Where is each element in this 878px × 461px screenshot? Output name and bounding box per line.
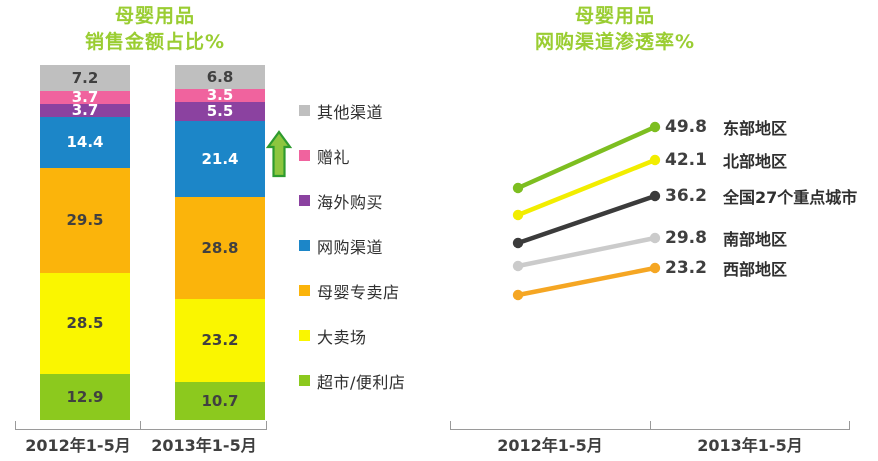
line-series-name: 南部地区 — [723, 226, 787, 250]
line-series-value: 29.8 — [665, 228, 723, 248]
bar-segment-value: 29.5 — [66, 211, 103, 229]
bar-segment[interactable]: 12.9 — [40, 374, 130, 420]
bar-segment[interactable]: 28.8 — [175, 197, 265, 299]
line-data-point[interactable] — [650, 191, 660, 201]
line-series-name: 全国27个重点城市 — [723, 184, 857, 208]
bar-segment[interactable]: 3.5 — [175, 89, 265, 101]
bar-column-2013[interactable]: 6.83.55.521.428.823.210.7 — [175, 65, 265, 420]
bar-segment[interactable]: 10.7 — [175, 382, 265, 420]
bar-segment-value: 23.2 — [201, 331, 238, 349]
legend-label: 赠礼 — [317, 144, 350, 168]
legend-label: 超市/便利店 — [317, 369, 405, 393]
axis-tick — [450, 421, 451, 430]
legend-swatch-icon — [299, 285, 310, 296]
arrow-up-icon — [266, 130, 292, 178]
axis-tick — [650, 421, 651, 430]
legend-item[interactable]: 大卖场 — [299, 313, 439, 358]
line-series — [518, 268, 655, 295]
bar-segment[interactable]: 5.5 — [175, 102, 265, 122]
line-series-value: 36.2 — [665, 186, 723, 206]
axis-tick — [15, 421, 16, 430]
line-series-value: 49.8 — [665, 117, 723, 137]
axis-tick — [140, 421, 141, 430]
axis-line — [15, 429, 267, 430]
legend-item[interactable]: 赠礼 — [299, 133, 439, 178]
axis-tick — [849, 421, 850, 430]
bar-segment[interactable]: 14.4 — [40, 117, 130, 168]
line-series-label-row: 42.1北部地区 — [665, 149, 787, 171]
line-series-name: 东部地区 — [723, 115, 787, 139]
line-series — [518, 160, 655, 215]
legend-label: 母婴专卖店 — [317, 279, 400, 303]
line-data-point[interactable] — [650, 233, 660, 243]
bar-segment[interactable]: 3.7 — [40, 104, 130, 117]
line-data-point[interactable] — [650, 263, 660, 273]
left-chart-axis-labels: 2012年1-5月 2013年1-5月 — [15, 432, 267, 456]
axis-tick — [266, 421, 267, 430]
legend-swatch-icon — [299, 150, 310, 161]
line-series — [518, 238, 655, 266]
legend-swatch-icon — [299, 195, 310, 206]
line-data-point[interactable] — [650, 155, 660, 165]
line-data-point[interactable] — [513, 261, 523, 271]
line-series-value: 42.1 — [665, 150, 723, 170]
bar-segment-value: 14.4 — [66, 133, 103, 151]
bar-segment[interactable]: 29.5 — [40, 168, 130, 273]
bar-segment[interactable]: 23.2 — [175, 299, 265, 381]
legend-swatch-icon — [299, 375, 310, 386]
legend-item[interactable]: 海外购买 — [299, 178, 439, 223]
bar-segment[interactable]: 21.4 — [175, 121, 265, 197]
legend-label: 海外购买 — [317, 189, 383, 213]
legend: 其他渠道赠礼海外购买网购渠道母婴专卖店大卖场超市/便利店 — [299, 88, 439, 403]
legend-item[interactable]: 母婴专卖店 — [299, 268, 439, 313]
line-series-name: 北部地区 — [723, 148, 787, 172]
chart-canvas: 母婴用品 销售金额占比% 7.23.73.714.429.528.512.9 6… — [0, 0, 878, 461]
bar-segment[interactable]: 7.2 — [40, 65, 130, 91]
line-chart-plot — [440, 0, 878, 461]
line-data-point[interactable] — [513, 290, 523, 300]
bar-segment-value: 3.7 — [72, 104, 99, 117]
right-chart-axis-labels: 2012年1-5月 2013年1-5月 — [450, 432, 850, 456]
bar-segment-value: 21.4 — [201, 150, 238, 168]
bar-segment-value: 6.8 — [207, 68, 234, 86]
legend-item[interactable]: 网购渠道 — [299, 223, 439, 268]
bar-segment-value: 10.7 — [201, 392, 238, 410]
legend-item[interactable]: 超市/便利店 — [299, 358, 439, 403]
line-series-label-row: 36.2全国27个重点城市 — [665, 185, 857, 207]
line-data-point[interactable] — [513, 210, 523, 220]
bar-segment[interactable]: 3.7 — [40, 91, 130, 104]
axis-label-2013: 2013年1-5月 — [650, 432, 850, 456]
line-data-point[interactable] — [650, 122, 660, 132]
axis-label-2013: 2013年1-5月 — [141, 432, 267, 456]
line-chart: 2012年1-5月 2013年1-5月 49.8东部地区42.1北部地区36.2… — [440, 0, 878, 461]
line-series-value: 23.2 — [665, 258, 723, 278]
bar-segment-value: 3.7 — [72, 91, 99, 104]
legend-item[interactable]: 其他渠道 — [299, 88, 439, 133]
axis-label-2012: 2012年1-5月 — [450, 432, 650, 456]
legend-swatch-icon — [299, 105, 310, 116]
bar-segment-value: 7.2 — [72, 69, 99, 87]
legend-swatch-icon — [299, 330, 310, 341]
line-series-label-row: 49.8东部地区 — [665, 116, 787, 138]
bar-segment-value: 3.5 — [207, 89, 234, 101]
legend-label: 其他渠道 — [317, 99, 383, 123]
bar-segment[interactable]: 28.5 — [40, 273, 130, 374]
line-data-point[interactable] — [513, 238, 523, 248]
line-series — [518, 127, 655, 188]
bar-segment-value: 28.8 — [201, 239, 238, 257]
line-series-label-row: 29.8南部地区 — [665, 227, 787, 249]
legend-swatch-icon — [299, 240, 310, 251]
line-data-point[interactable] — [513, 183, 523, 193]
axis-label-2012: 2012年1-5月 — [15, 432, 141, 456]
bar-segment[interactable]: 6.8 — [175, 65, 265, 89]
line-series-name: 西部地区 — [723, 256, 787, 280]
line-series — [518, 196, 655, 243]
bar-column-2012[interactable]: 7.23.73.714.429.528.512.9 — [40, 65, 130, 420]
bar-segment-value: 12.9 — [66, 388, 103, 406]
bar-segment-value: 5.5 — [207, 102, 234, 120]
bar-segment-value: 28.5 — [66, 314, 103, 332]
legend-label: 大卖场 — [317, 324, 367, 348]
line-series-label-row: 23.2西部地区 — [665, 257, 787, 279]
legend-label: 网购渠道 — [317, 234, 383, 258]
